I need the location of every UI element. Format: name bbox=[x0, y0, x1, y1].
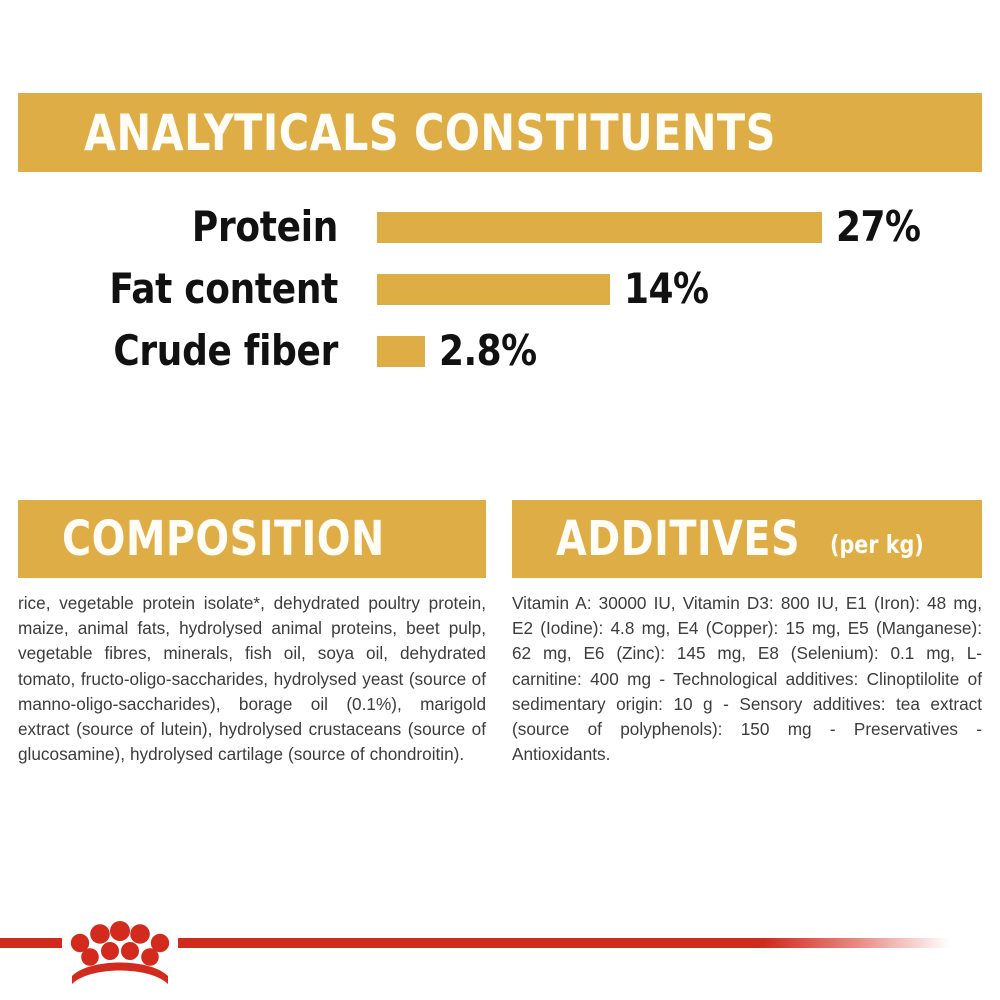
bar-track-fat-content: 14% bbox=[377, 268, 713, 310]
additives-title: ADDITIVES bbox=[556, 515, 800, 563]
footer-rule-left bbox=[0, 938, 62, 948]
bar-fill-fat-content bbox=[377, 274, 610, 305]
bar-label-protein: Protein bbox=[17, 206, 338, 248]
nutrition-bar-chart: Protein 27% Fat content 14% Crude fiber … bbox=[0, 196, 1000, 396]
bar-row-protein: Protein 27% bbox=[0, 196, 1000, 258]
bar-value-fat-content: 14% bbox=[624, 268, 709, 310]
composition-body-text: rice, vegetable protein isolate*, dehydr… bbox=[18, 591, 486, 767]
bar-track-protein: 27% bbox=[377, 206, 925, 248]
bar-row-fat-content: Fat content 14% bbox=[0, 258, 1000, 320]
additives-body-text: Vitamin A: 30000 IU, Vitamin D3: 800 IU,… bbox=[512, 591, 982, 767]
additives-panel: ADDITIVES (per kg) Vitamin A: 30000 IU, … bbox=[512, 500, 982, 767]
brand-footer bbox=[0, 900, 1000, 1000]
composition-banner: COMPOSITION bbox=[18, 500, 486, 578]
composition-title: COMPOSITION bbox=[62, 515, 385, 563]
additives-banner: ADDITIVES (per kg) bbox=[512, 500, 982, 578]
analyticals-constituents-banner: ANALYTICALS CONSTITUENTS bbox=[18, 93, 982, 172]
bar-track-crude-fiber: 2.8% bbox=[377, 330, 542, 372]
bar-fill-crude-fiber bbox=[377, 336, 425, 367]
bar-fill-protein bbox=[377, 212, 822, 243]
footer-rule-right bbox=[178, 938, 950, 948]
composition-panel: COMPOSITION rice, vegetable protein isol… bbox=[18, 500, 486, 767]
royal-canin-crown-icon bbox=[62, 910, 178, 990]
bar-row-crude-fiber: Crude fiber 2.8% bbox=[0, 320, 1000, 382]
bar-label-fat-content: Fat content bbox=[17, 268, 338, 310]
bar-label-crude-fiber: Crude fiber bbox=[17, 330, 338, 372]
bar-value-protein: 27% bbox=[836, 206, 921, 248]
analyticals-title: ANALYTICALS CONSTITUENTS bbox=[84, 108, 776, 158]
bar-value-crude-fiber: 2.8% bbox=[439, 330, 537, 372]
additives-subtitle: (per kg) bbox=[830, 532, 924, 557]
